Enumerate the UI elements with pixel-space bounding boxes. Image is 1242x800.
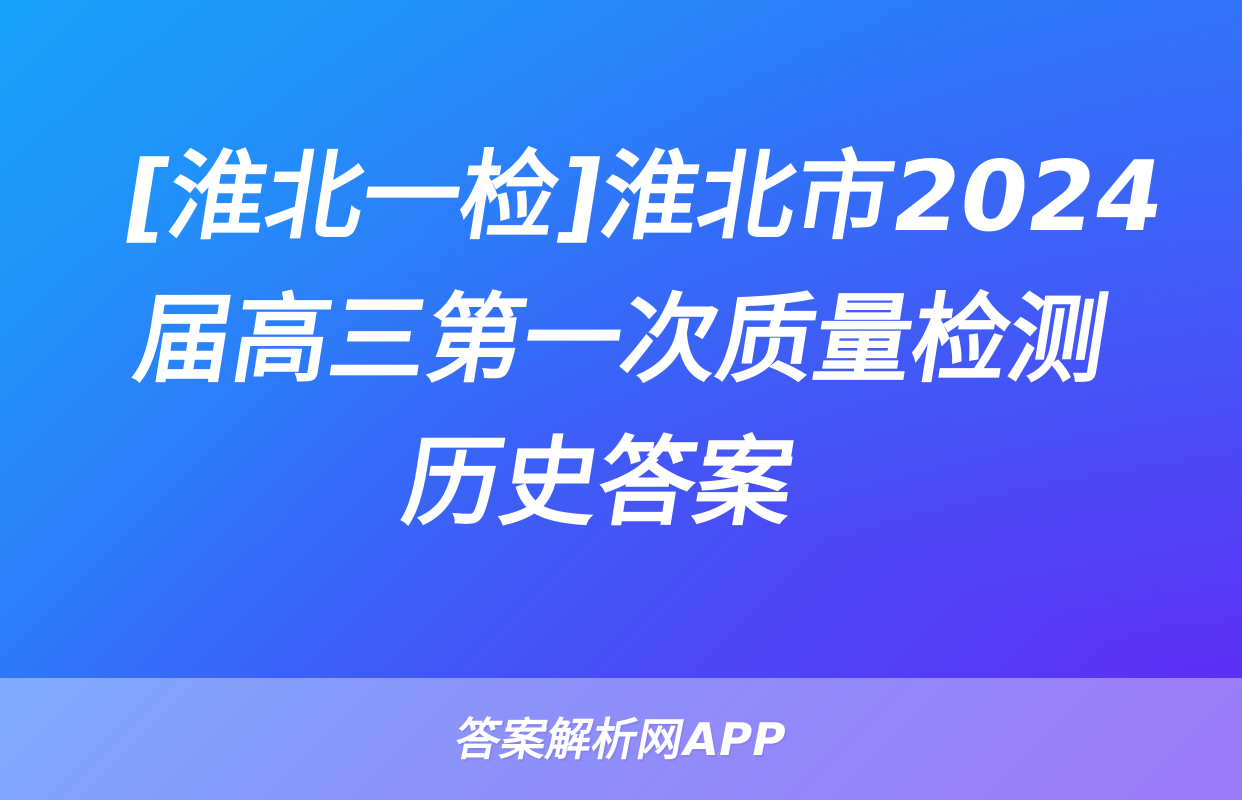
watermark-bar: 答案解析网APP <box>0 678 1242 800</box>
headline-container: [淮北一检]淮北市2024届高三第一次质量检测历史答案 <box>0 0 1242 678</box>
page-title: [淮北一检]淮北市2024届高三第一次质量检测历史答案 <box>65 125 1178 554</box>
poster-canvas: [淮北一检]淮北市2024届高三第一次质量检测历史答案 答案解析网APP <box>0 0 1242 800</box>
watermark-app-label: 答案解析网APP <box>452 717 791 762</box>
